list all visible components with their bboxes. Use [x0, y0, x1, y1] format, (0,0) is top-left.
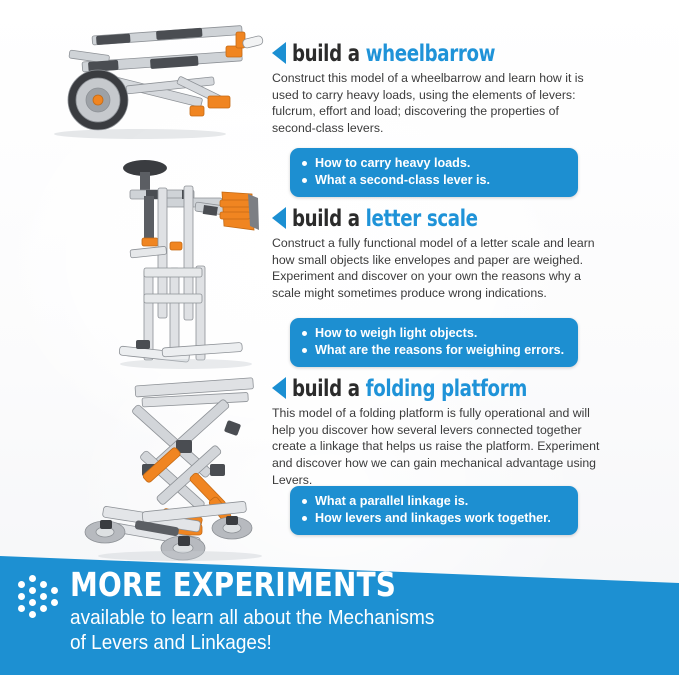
- left-triangle-icon: [272, 42, 286, 64]
- product-feature-page: build a wheelbarrow Construct this model…: [0, 0, 679, 675]
- section-wheelbarrow: build a wheelbarrow Construct this model…: [272, 42, 590, 137]
- banner-subtitle-line1: available to learn all about the Mechani…: [70, 606, 602, 631]
- section-heading-row: build a wheelbarrow: [272, 42, 590, 66]
- list-item: What a parallel linkage is.: [302, 493, 566, 510]
- banner-subtitle-line2: of Levers and Linkages!: [70, 631, 602, 656]
- callout-wheelbarrow: How to carry heavy loads. What a second-…: [290, 148, 578, 197]
- banner-title: MORE EXPERIMENTS: [70, 568, 596, 601]
- section-heading-row: build a letter scale: [272, 207, 602, 231]
- section-headline: build a wheelbarrow: [292, 42, 495, 66]
- headline-prefix: build a: [292, 41, 366, 67]
- section-body-text: Construct a fully functional model of a …: [272, 235, 602, 301]
- headline-prefix: build a: [292, 206, 366, 232]
- section-headline: build a letter scale: [292, 207, 478, 231]
- folding-platform-model-photo: [80, 372, 285, 562]
- left-triangle-icon: [272, 207, 286, 229]
- section-body-text: This model of a folding platform is full…: [272, 405, 600, 488]
- headline-accent: folding platform: [366, 376, 527, 402]
- letter-scale-model-photo: [100, 150, 280, 370]
- section-folding-platform: build a folding platform This model of a…: [272, 377, 600, 488]
- banner-content: MORE EXPERIMENTS available to learn all …: [0, 543, 679, 675]
- section-headline: build a folding platform: [292, 377, 527, 401]
- section-heading-row: build a folding platform: [272, 377, 600, 401]
- list-item: How to weigh light objects.: [302, 325, 566, 342]
- list-item: How levers and linkages work together.: [302, 510, 566, 527]
- list-item: What a second-class lever is.: [302, 172, 566, 189]
- wheelbarrow-model-photo: [30, 14, 270, 139]
- callout-bullet-list: How to carry heavy loads. What a second-…: [302, 155, 566, 189]
- list-item: How to carry heavy loads.: [302, 155, 566, 172]
- section-body-text: Construct this model of a wheelbarrow an…: [272, 70, 590, 136]
- dot-arrow-icon: [18, 573, 64, 623]
- headline-prefix: build a: [292, 376, 366, 402]
- list-item: What are the reasons for weighing errors…: [302, 342, 566, 359]
- section-letter-scale: build a letter scale Construct a fully f…: [272, 207, 602, 302]
- callout-bullet-list: How to weigh light objects. What are the…: [302, 325, 566, 359]
- headline-accent: letter scale: [366, 206, 478, 232]
- headline-accent: wheelbarrow: [366, 41, 495, 67]
- left-triangle-icon: [272, 377, 286, 399]
- callout-letter-scale: How to weigh light objects. What are the…: [290, 318, 578, 367]
- more-experiments-banner: MORE EXPERIMENTS available to learn all …: [0, 543, 679, 675]
- callout-folding-platform: What a parallel linkage is. How levers a…: [290, 486, 578, 535]
- callout-bullet-list: What a parallel linkage is. How levers a…: [302, 493, 566, 527]
- banner-text-block: MORE EXPERIMENTS available to learn all …: [70, 568, 630, 656]
